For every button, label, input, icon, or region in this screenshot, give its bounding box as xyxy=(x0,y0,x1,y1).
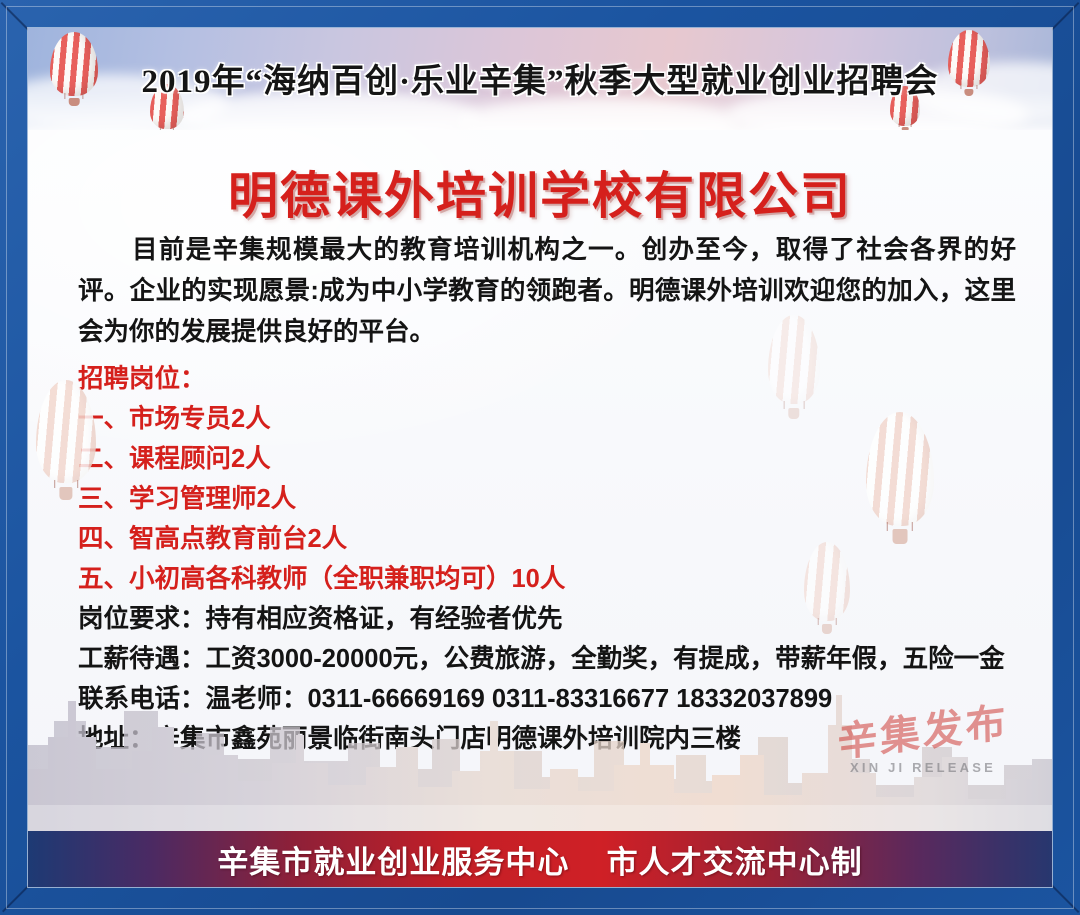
company-intro-paragraph: 目前是辛集规模最大的教育培训机构之一。创办至今，取得了社会各界的好评。企业的实现… xyxy=(78,230,1016,353)
contact-phone-line: 联系电话：温老师：0311-66669169 0311-83316677 183… xyxy=(78,679,1016,719)
footer-organizers: 辛集市就业创业服务中心 市人才交流中心制 xyxy=(217,837,862,882)
footer-bar: 辛集市就业创业服务中心 市人才交流中心制 xyxy=(28,831,1052,887)
poster-content-card: 2019年“海纳百创·乐业辛集”秋季大型就业创业招聘会 明德课外培训学校有限公司… xyxy=(28,28,1052,887)
poster-body: 明德课外培训学校有限公司 目前是辛集规模最大的教育培训机构之一。创办至今，取得了… xyxy=(28,130,1052,887)
footer-talent-center: 市人才交流中心制 xyxy=(607,845,863,880)
jobs-heading: 招聘岗位： xyxy=(78,359,1016,399)
job-requirements: 岗位要求：持有相应资格证，有经验者优先 xyxy=(78,599,1016,639)
event-title: 2019年“海纳百创·乐业辛集”秋季大型就业创业招聘会 xyxy=(28,54,1052,102)
cloud-shape xyxy=(458,98,738,130)
salary-and-benefits: 工薪待遇：工资3000-20000元，公费旅游，全勤奖，有提成，带薪年假，五险一… xyxy=(78,639,1016,679)
hot-air-balloon-icon xyxy=(866,412,934,544)
hot-air-balloon-icon xyxy=(36,380,96,500)
company-name: 明德课外培训学校有限公司 xyxy=(28,156,1052,228)
hot-air-balloon-icon xyxy=(768,315,820,419)
job-list-item: 五、小初高各科教师（全职兼职均可）10人 xyxy=(78,559,1016,599)
watermark-english: XIN JI RELEASE xyxy=(828,760,1018,775)
footer-service-center: 辛集市就业创业服务中心 xyxy=(217,845,569,880)
address-line: 地址：辛集市鑫苑丽景临街南头门店明德课外培训院内三楼 xyxy=(78,719,1016,759)
hot-air-balloon-icon xyxy=(804,542,850,634)
recruitment-poster: 2019年“海纳百创·乐业辛集”秋季大型就业创业招聘会 明德课外培训学校有限公司… xyxy=(0,0,1080,915)
